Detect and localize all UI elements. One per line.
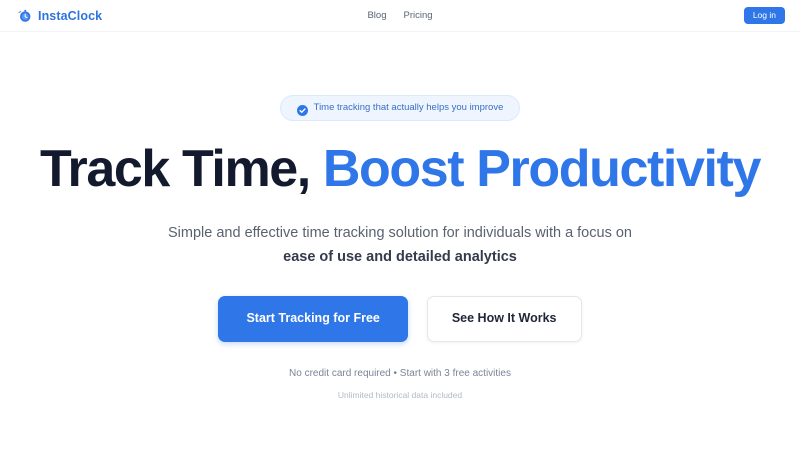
hero-section: Time tracking that actually helps you im… <box>0 32 800 399</box>
stopwatch-icon <box>16 8 32 24</box>
start-tracking-button[interactable]: Start Tracking for Free <box>218 296 407 342</box>
brand-name: InstaClock <box>38 10 102 23</box>
tagline-badge-text: Time tracking that actually helps you im… <box>314 103 504 113</box>
nav-link-pricing[interactable]: Pricing <box>403 11 432 21</box>
nav-link-blog[interactable]: Blog <box>367 11 386 21</box>
primary-nav: Blog Pricing <box>0 0 800 32</box>
login-button[interactable]: Log in <box>744 7 785 24</box>
brand-logo[interactable]: InstaClock <box>16 0 102 32</box>
check-circle-icon <box>297 103 308 114</box>
hero-subtitle-line1: Simple and effective time tracking solut… <box>168 225 632 241</box>
landing-page: InstaClock Blog Pricing Log in Time trac… <box>0 0 800 450</box>
tagline-badge: Time tracking that actually helps you im… <box>280 95 521 121</box>
see-how-it-works-button[interactable]: See How It Works <box>427 296 582 342</box>
headline-accent: Boost Productivity <box>323 140 760 198</box>
site-header: InstaClock Blog Pricing Log in <box>0 0 800 32</box>
page-title: Track Time, Boost Productivity <box>0 142 800 197</box>
hero-subtitle: Simple and effective time tracking solut… <box>0 222 800 269</box>
fineprint-secondary: Unlimited historical data included <box>0 391 800 400</box>
cta-row: Start Tracking for Free See How It Works <box>0 296 800 342</box>
headline-lead: Track Time, <box>40 140 323 198</box>
fineprint-primary: No credit card required • Start with 3 f… <box>0 369 800 379</box>
hero-subtitle-line2: ease of use and detailed analytics <box>0 246 800 268</box>
